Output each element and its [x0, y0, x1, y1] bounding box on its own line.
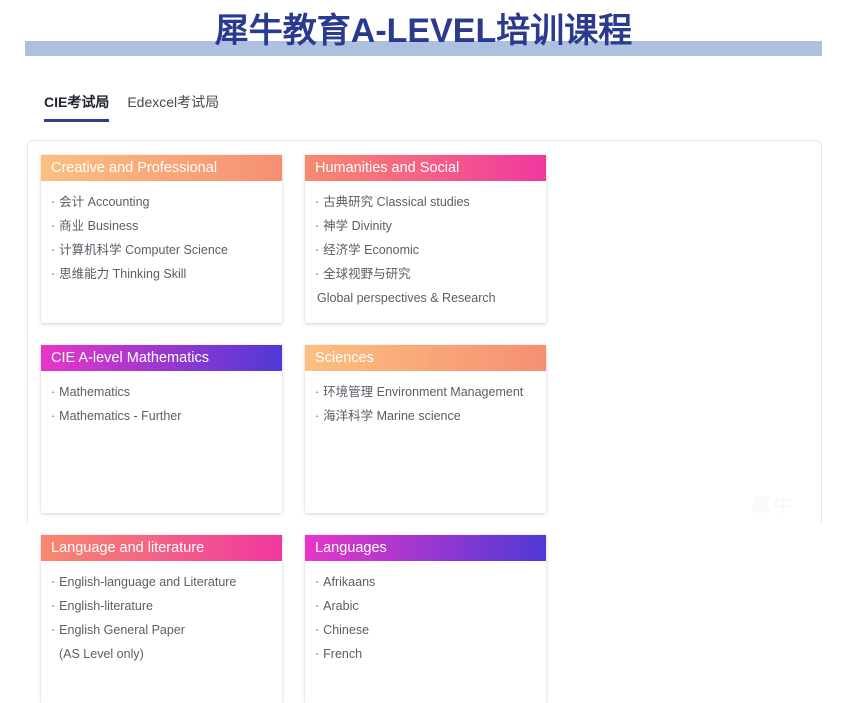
course-list: 环境管理 Environment Management海洋科学 Marine s…	[315, 380, 536, 428]
exam-board-tabs: CIE考试局 Edexcel考试局	[44, 92, 219, 122]
tab-cie-label: CIE考试局	[44, 94, 109, 110]
course-list: English-language and LiteratureEnglish-l…	[51, 570, 272, 666]
course-card-body: 古典研究 Classical studies神学 Divinity经济学 Eco…	[305, 181, 546, 323]
course-card-title: Languages	[305, 535, 546, 561]
course-list-item[interactable]: Mathematics	[51, 380, 272, 404]
course-list: AfrikaansArabicChineseFrench	[315, 570, 536, 666]
course-list-item[interactable]: 会计 Accounting	[51, 190, 272, 214]
course-card-title: Sciences	[305, 345, 546, 371]
course-card[interactable]: Sciences环境管理 Environment Management海洋科学 …	[305, 345, 546, 513]
course-card-title: CIE A-level Mathematics	[41, 345, 282, 371]
tab-edexcel-label: Edexcel考试局	[127, 94, 219, 110]
course-list-item[interactable]: Arabic	[315, 594, 536, 618]
course-list-item[interactable]: English General Paper	[51, 618, 272, 642]
course-list-item[interactable]: Global perspectives & Research	[315, 286, 536, 310]
course-card-grid: Creative and Professional会计 Accounting商业…	[41, 155, 808, 703]
course-card-body: MathematicsMathematics - Further	[41, 371, 282, 513]
course-card-body: AfrikaansArabicChineseFrench	[305, 561, 546, 703]
course-list-item[interactable]: 全球视野与研究	[315, 262, 536, 286]
course-card-body: 会计 Accounting商业 Business计算机科学 Computer S…	[41, 181, 282, 323]
course-list-item[interactable]: (AS Level only)	[51, 642, 272, 666]
course-card-title: Humanities and Social	[305, 155, 546, 181]
course-list-item[interactable]: 神学 Divinity	[315, 214, 536, 238]
course-list-item[interactable]: 古典研究 Classical studies	[315, 190, 536, 214]
course-list-item[interactable]: Mathematics - Further	[51, 404, 272, 428]
course-list-item[interactable]: 计算机科学 Computer Science	[51, 238, 272, 262]
courses-panel: Creative and Professional会计 Accounting商业…	[27, 140, 822, 524]
tab-cie[interactable]: CIE考试局	[44, 92, 109, 122]
course-list-item[interactable]: Afrikaans	[315, 570, 536, 594]
course-card-body: 环境管理 Environment Management海洋科学 Marine s…	[305, 371, 546, 513]
course-list-item[interactable]: English-literature	[51, 594, 272, 618]
course-list-item[interactable]: 海洋科学 Marine science	[315, 404, 536, 428]
course-list: 古典研究 Classical studies神学 Divinity经济学 Eco…	[315, 190, 536, 310]
course-list-item[interactable]: 商业 Business	[51, 214, 272, 238]
course-card[interactable]: LanguagesAfrikaansArabicChineseFrench	[305, 535, 546, 703]
course-card[interactable]: Creative and Professional会计 Accounting商业…	[41, 155, 282, 323]
course-list: 会计 Accounting商业 Business计算机科学 Computer S…	[51, 190, 272, 286]
course-card-body: English-language and LiteratureEnglish-l…	[41, 561, 282, 703]
course-list-item[interactable]: Chinese	[315, 618, 536, 642]
course-list-item[interactable]: 经济学 Economic	[315, 238, 536, 262]
tab-edexcel[interactable]: Edexcel考试局	[127, 92, 219, 122]
course-list-item[interactable]: 环境管理 Environment Management	[315, 380, 536, 404]
page-title: 犀牛教育A-LEVEL培训课程	[0, 10, 847, 52]
course-card[interactable]: Language and literatureEnglish-language …	[41, 535, 282, 703]
course-list-item[interactable]: French	[315, 642, 536, 666]
course-list-item[interactable]: 思维能力 Thinking Skill	[51, 262, 272, 286]
course-card[interactable]: Humanities and Social古典研究 Classical stud…	[305, 155, 546, 323]
page-header: 犀牛教育A-LEVEL培训课程	[0, 0, 847, 75]
course-card-title: Creative and Professional	[41, 155, 282, 181]
course-card[interactable]: CIE A-level MathematicsMathematicsMathem…	[41, 345, 282, 513]
course-list-item[interactable]: English-language and Literature	[51, 570, 272, 594]
course-list: MathematicsMathematics - Further	[51, 380, 272, 428]
course-card-title: Language and literature	[41, 535, 282, 561]
